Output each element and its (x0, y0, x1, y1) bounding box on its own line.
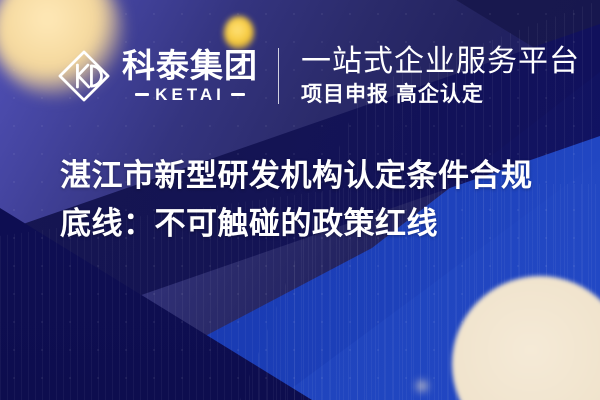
tagline-block: 一站式企业服务平台 项目申报 高企认定 (301, 45, 580, 108)
tagline-main: 一站式企业服务平台 (301, 45, 580, 79)
promo-banner: 科泰集团 KETAI 一站式企业服务平台 项目申报 高企认定 湛江市新型研发机构… (0, 0, 600, 400)
page-title-line-1: 湛江市新型研发机构认定条件合规 (60, 152, 560, 200)
banner-header: 科泰集团 KETAI 一站式企业服务平台 项目申报 高企认定 (0, 34, 600, 118)
brand-name-cn: 科泰集团 (122, 49, 258, 83)
brand-wordmark: 科泰集团 KETAI (122, 49, 258, 103)
left-dash-icon (135, 93, 149, 96)
brand-name-en-row: KETAI (122, 86, 258, 103)
vertical-divider (278, 48, 279, 104)
brand-logo[interactable]: 科泰集团 KETAI (56, 48, 258, 104)
tagline-sub: 项目申报 高企认定 (301, 82, 580, 108)
cream-circle-accent-icon (414, 378, 430, 394)
page-title: 湛江市新型研发机构认定条件合规 底线：不可触碰的政策红线 (60, 152, 560, 248)
right-dash-icon (231, 93, 245, 96)
brand-name-en: KETAI (155, 86, 225, 103)
page-title-line-2: 底线：不可触碰的政策红线 (60, 200, 560, 248)
ketai-diamond-monogram-icon (56, 48, 112, 104)
